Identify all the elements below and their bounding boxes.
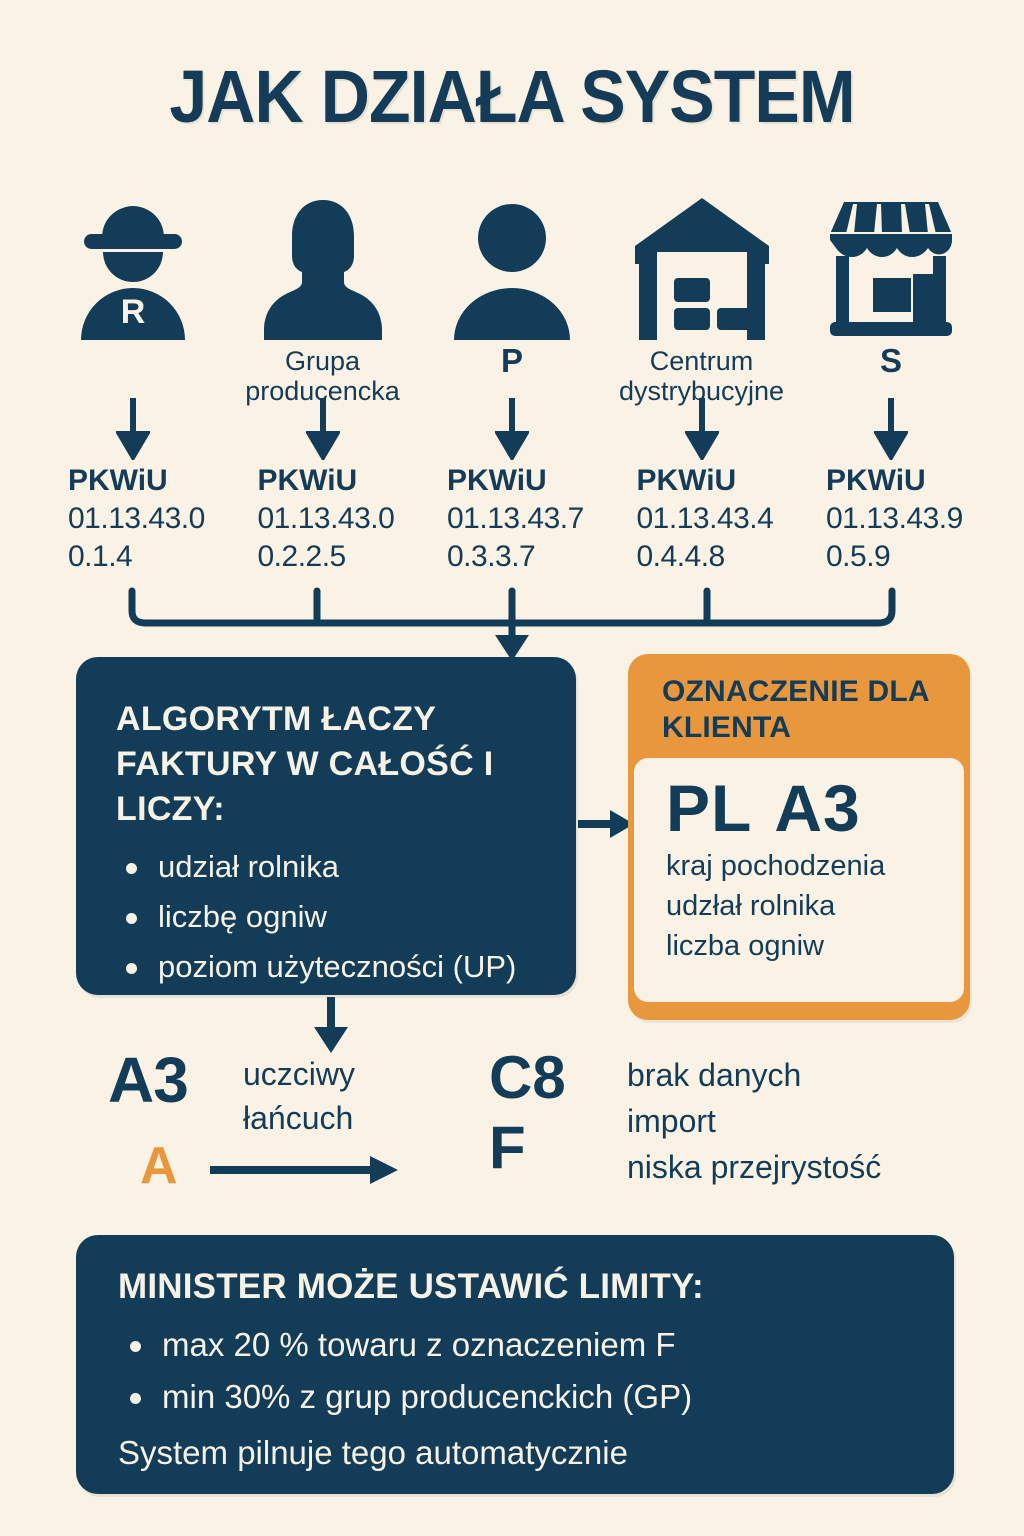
actor-processor: P [419,190,605,376]
pkwiu-label: PKWiU [637,462,795,500]
woman-icon [248,190,398,340]
shop-icon [816,190,966,340]
customer-label-line: kraj pochodzenia [666,846,946,886]
pkwiu-number-line1: 01.13.43.0 [68,500,226,538]
pkwiu-number-line2: 0.1.4 [68,538,226,576]
farmer-hat-icon: R [58,190,208,340]
limits-list: max 20 % towaru z oznaczeniem F min 30% … [118,1319,918,1423]
pkwiu-code: PKWiU 01.13.43.9 0.5.9 [798,462,984,582]
grade-bad-code-bottom: F [489,1118,526,1178]
grade-good-description: uczciwy łańcuch [243,1052,433,1140]
algorithm-list-item: poziom użyteczności (UP) [116,942,542,992]
pkwiu-number-line1: 01.13.43.9 [826,500,984,538]
pkwiu-code: PKWiU 01.13.43.0 0.1.4 [40,462,226,582]
pkwiu-label: PKWiU [826,462,984,500]
actor-badge-r: R [58,293,208,332]
algorithm-box: ALGORYTM ŁACZY FAKTURY W CAŁOŚĆ I LICZY:… [76,657,576,995]
down-arrow-icon [609,398,795,460]
pkwiu-label: PKWiU [68,462,226,500]
infographic-poster: JAK DZIAŁA SYSTEM R [0,0,1024,1536]
customer-label-line: udzłał rolnika [666,886,946,926]
limits-list-item: min 30% z grup producenckich (GP) [118,1371,918,1423]
grade-code: A3 [774,771,860,845]
actor-distribution-center: Centrum dystrybucyjne [609,190,795,406]
limits-list-item: max 20 % towaru z oznaczeniem F [118,1319,918,1371]
down-arrow-icon [303,997,359,1055]
down-arrow-icon [798,398,984,460]
pkwiu-code: PKWiU 01.13.43.0 0.2.2.5 [230,462,416,582]
actor-label-shop: S [880,346,902,376]
customer-label-code: PLA3 [666,770,946,846]
warehouse-icon [627,190,777,340]
pkwiu-label: PKWiU [447,462,605,500]
actor-label-processor: P [501,346,523,376]
actor-label-producer-group: Grupa producencka [245,346,400,406]
actor-farmer: R [40,190,226,346]
pkwiu-number-line1: 01.13.43.0 [258,500,416,538]
actor-shop: S [798,190,984,376]
grade-bad-description: brak danych import niska przejrystość [627,1052,957,1190]
down-arrow-icon [419,398,605,460]
down-arrow-icon [230,398,416,460]
actor-producer-group: Grupa producencka [230,190,416,406]
customer-label-inner: PLA3 kraj pochodzenia udzłał rolnika lic… [634,758,964,1002]
limits-box: MINISTER MOŻE USTAWIĆ LIMITY: max 20 % t… [76,1235,954,1494]
country-code: PL [666,771,752,845]
person-icon [437,190,587,340]
right-arrow-icon [210,1150,400,1190]
pkwiu-label: PKWiU [258,462,416,500]
pkwiu-code: PKWiU 01.13.43.4 0.4.4.8 [609,462,795,582]
grade-good-code: A3 [108,1048,188,1112]
customer-label-box: OZNACZENIE DLA KLIENTA PLA3 kraj pochodz… [628,654,970,1020]
customer-label-line: liczba ogniw [666,926,946,966]
actor-label-distribution-center: Centrum dystrybucyjne [619,346,784,406]
algorithm-list-item: liczbę ogniw [116,892,542,942]
pkwiu-code-row: PKWiU 01.13.43.0 0.1.4 PKWiU 01.13.43.0 … [40,462,984,582]
pkwiu-code: PKWiU 01.13.43.7 0.3.3.7 [419,462,605,582]
grade-good-marker: A [140,1140,178,1192]
pkwiu-number-line1: 01.13.43.7 [447,500,605,538]
down-arrow-icon [40,398,226,460]
pkwiu-number-line2: 0.5.9 [826,538,984,576]
pkwiu-number-line2: 0.2.2.5 [258,538,416,576]
algorithm-list-item: udział rolnika [116,842,542,892]
actor-row: R Grupa producencka P [40,190,984,420]
limits-note: System pilnuje tego automatycznie [118,1427,918,1479]
pkwiu-number-line2: 0.3.3.7 [447,538,605,576]
grade-bad-line: import [627,1098,957,1144]
algorithm-list: udział rolnika liczbę ogniw poziom użyte… [116,842,542,992]
actor-to-code-arrows [40,398,984,460]
pkwiu-number-line1: 01.13.43.4 [637,500,795,538]
customer-label-heading: OZNACZENIE DLA KLIENTA [634,660,964,758]
grade-bad-line: brak danych [627,1052,957,1098]
algorithm-heading: ALGORYTM ŁACZY FAKTURY W CAŁOŚĆ I LICZY: [116,697,542,832]
grade-bad-code-top: C8 [489,1048,566,1108]
pkwiu-number-line2: 0.4.4.8 [637,538,795,576]
converging-bracket-connector [120,585,904,663]
page-title: JAK DZIAŁA SYSTEM [41,54,983,139]
grade-bad-line: niska przejrystość [627,1144,957,1190]
limits-heading: MINISTER MOŻE USTAWIĆ LIMITY: [118,1265,918,1309]
